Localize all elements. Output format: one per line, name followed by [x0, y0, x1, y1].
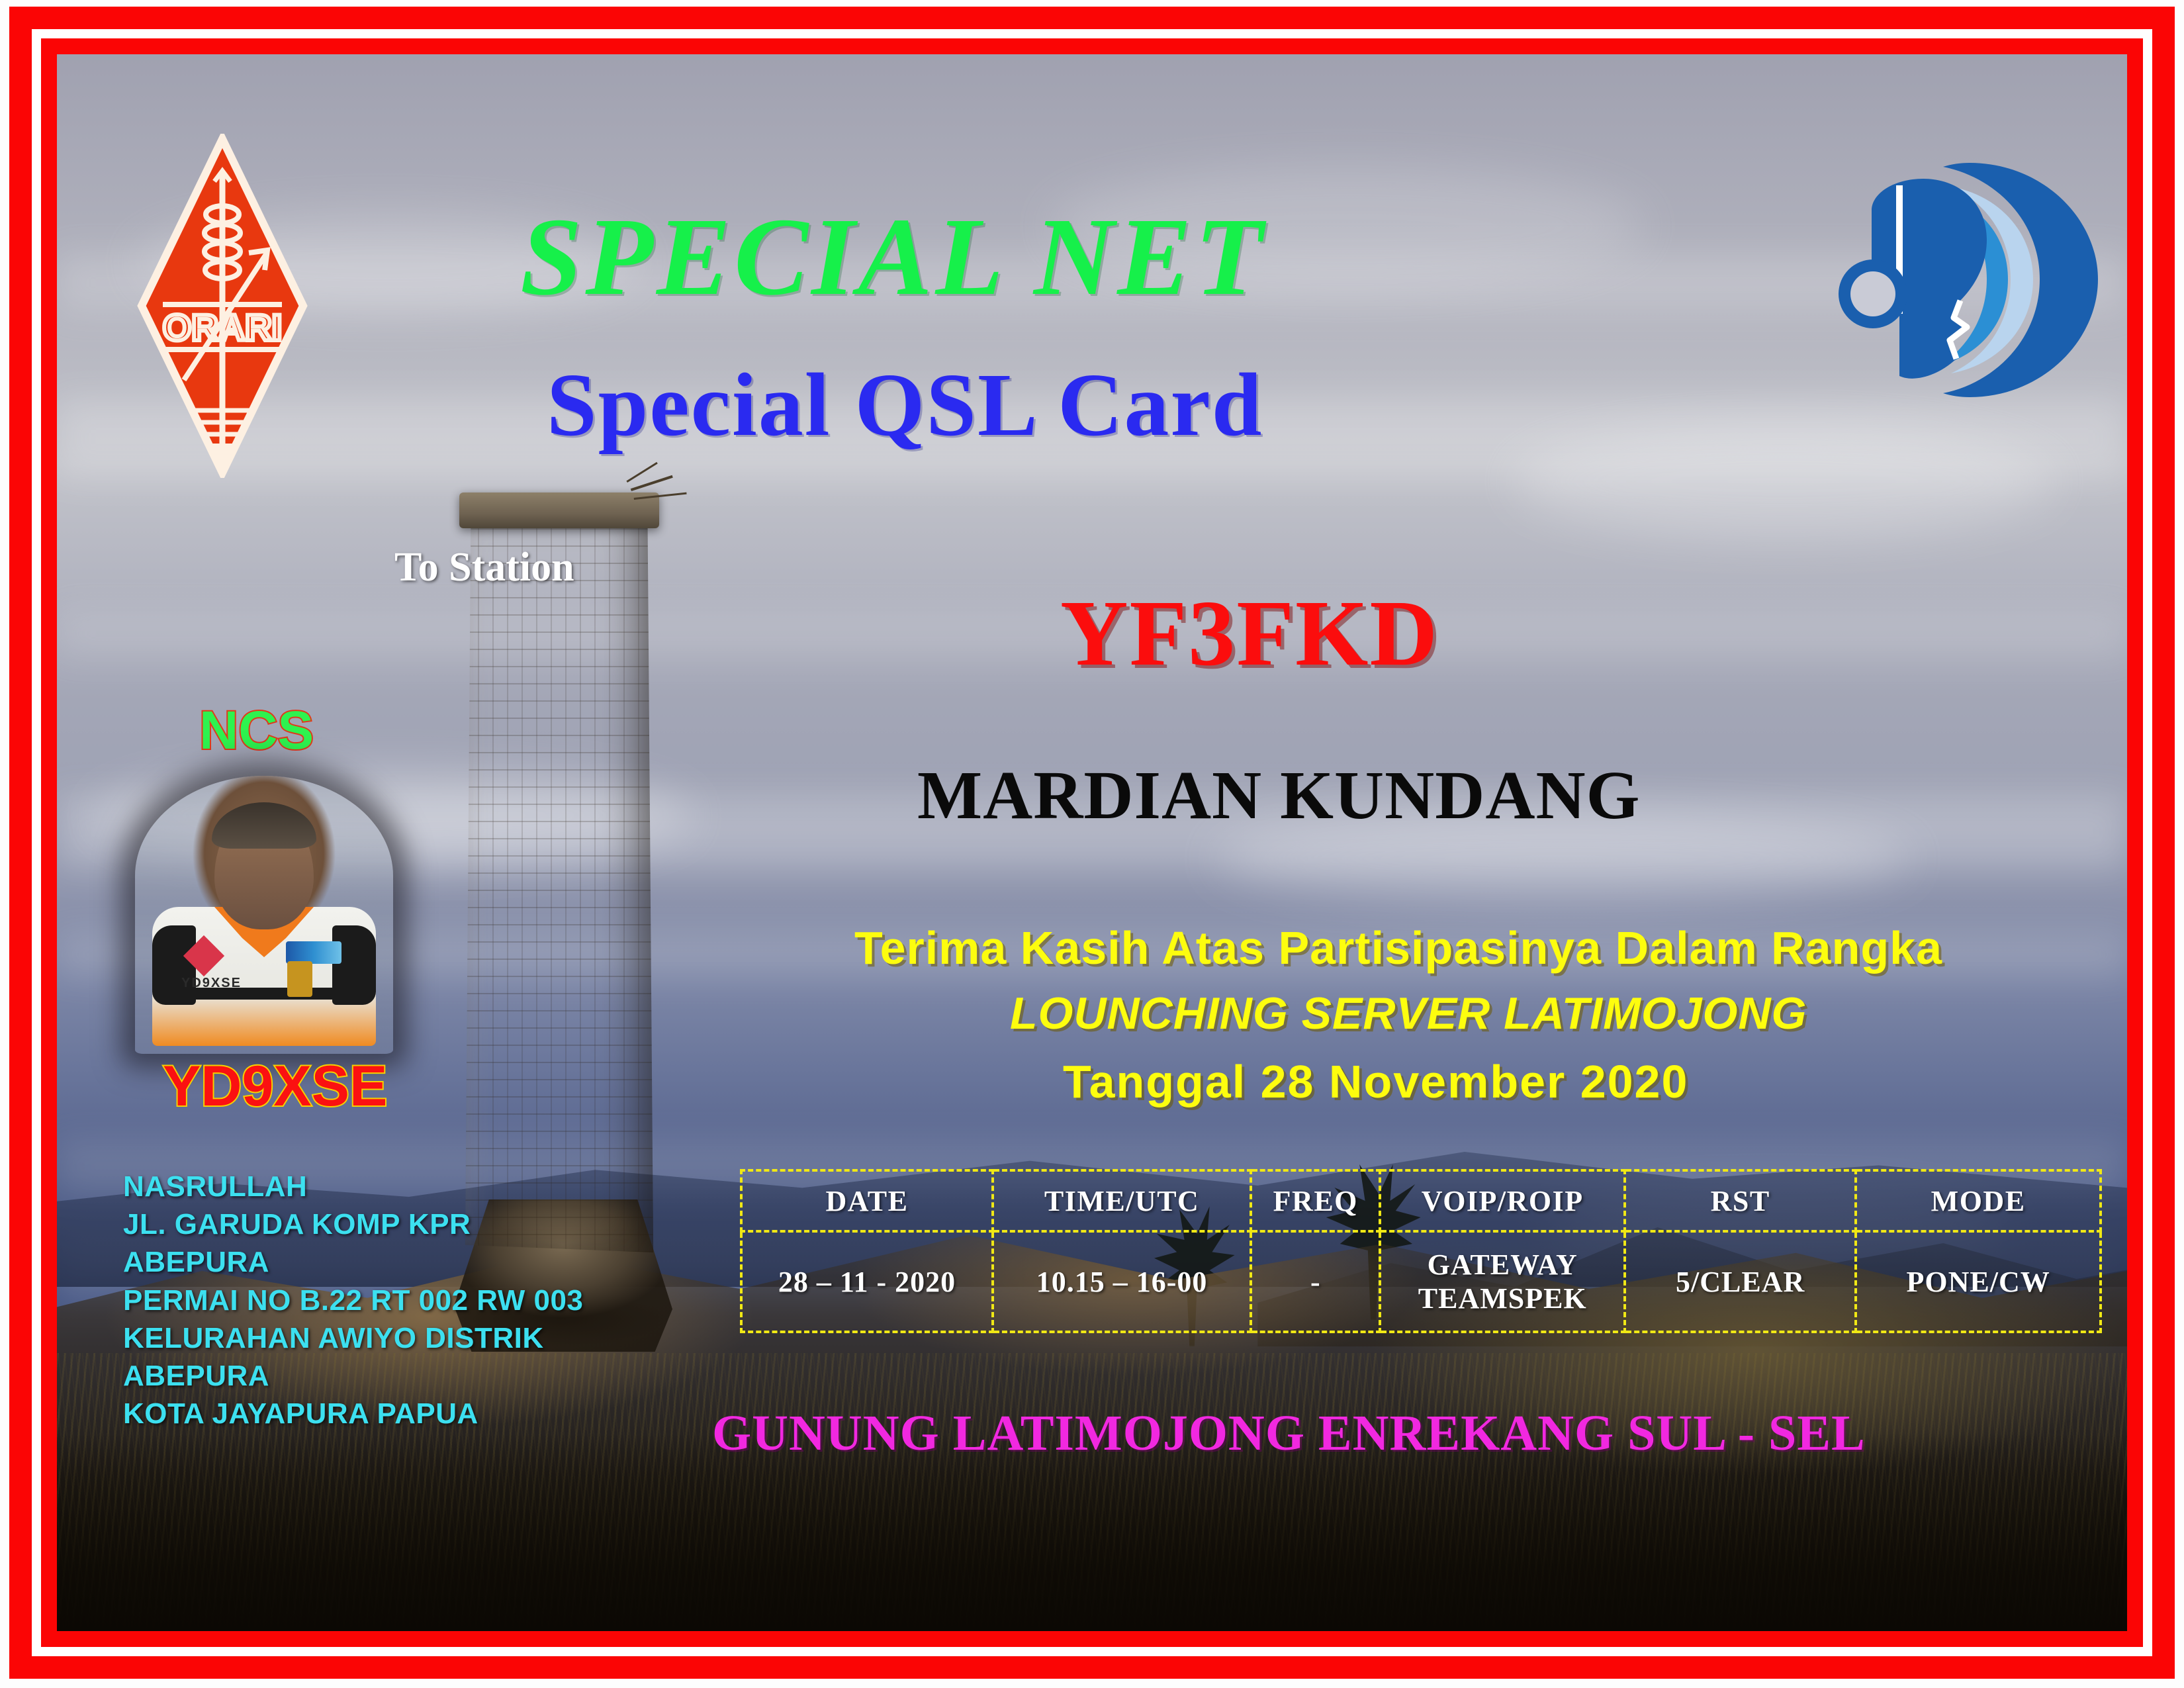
address-line: JL. GARUDA KOMP KPR	[123, 1205, 583, 1243]
footer-web-address: Address : amatir.latimojong.com	[1314, 1623, 2039, 1631]
cell-voip: GATEWAYTEAMSPEK	[1380, 1231, 1625, 1332]
id-card-lanyard	[287, 961, 312, 997]
orari-logo: ORARI	[136, 134, 308, 478]
page-title: SPECIAL NET	[520, 193, 1266, 321]
ground-shadow	[57, 1432, 2127, 1631]
column-header-date: DATE	[741, 1170, 993, 1231]
cell-time: 10.15 – 16-00	[993, 1231, 1251, 1332]
ncs-label: NCS	[199, 700, 314, 762]
event-title: LOUNCHING SERVER LATIMOJONG	[1010, 988, 1807, 1039]
headset-profile-logo	[1831, 147, 2109, 412]
background-photograph: ORARI SPECIAL NE	[57, 54, 2127, 1631]
cell-freq: -	[1251, 1231, 1380, 1332]
location-caption: GUNUNG LATIMOJONG ENREKANG SUL - SEL	[712, 1405, 1866, 1462]
column-header-rst: RST	[1625, 1170, 1856, 1231]
cell-date: 28 – 11 - 2020	[741, 1231, 993, 1332]
address-line: NASRULLAH	[123, 1168, 583, 1205]
table-row: 28 – 11 - 2020 10.15 – 16-00 - GATEWAYTE…	[741, 1231, 2101, 1332]
page-subtitle: Special QSL Card	[547, 353, 1263, 457]
hair	[212, 802, 316, 849]
cell-mode: PONE/CW	[1856, 1231, 2101, 1332]
ncs-callsign: YD9XSE	[163, 1054, 387, 1119]
qso-log-table: DATE TIME/UTC FREQ VOIP/ROIP RST MODE 28…	[740, 1169, 2102, 1333]
cell-rst: 5/CLEAR	[1625, 1231, 1856, 1332]
event-date: Tanggal 28 November 2020	[1063, 1055, 1688, 1108]
address-line: ABEPURA	[123, 1357, 583, 1395]
station-callsign: YF3FKD	[1060, 579, 1439, 687]
to-station-label: To Station	[394, 544, 574, 591]
orari-wordmark: ORARI	[163, 306, 282, 348]
qsl-card: ORARI SPECIAL NE	[0, 0, 2184, 1688]
cloud-puff	[1513, 425, 2056, 538]
address-line: KOTA JAYAPURA PAPUA	[123, 1395, 583, 1432]
column-header-time: TIME/UTC	[993, 1170, 1251, 1231]
twig	[626, 462, 657, 483]
operator-name: MARDIAN KUNDANG	[917, 756, 1640, 835]
address-line: KELURAHAN AWIYO DISTRIK	[123, 1319, 583, 1357]
shirt-badge-right	[286, 941, 341, 964]
column-header-voip: VOIP/ROIP	[1380, 1170, 1625, 1231]
column-header-mode: MODE	[1856, 1170, 2101, 1231]
shirt-callsign-patch: YD9XSE	[181, 976, 242, 991]
column-header-freq: FREQ	[1251, 1170, 1380, 1231]
table-header-row: DATE TIME/UTC FREQ VOIP/ROIP RST MODE	[741, 1170, 2101, 1231]
address-line: PERMAI NO B.22 RT 002 RW 003	[123, 1282, 583, 1319]
footer-motto: "AMATIR RADIO ADALAH PROGRESIVE"	[135, 1623, 1198, 1631]
station-address: NASRULLAH JL. GARUDA KOMP KPR ABEPURA PE…	[123, 1168, 583, 1432]
monument-texture	[463, 504, 655, 1252]
address-line: ABEPURA	[123, 1243, 583, 1281]
ncs-operator-photo: YD9XSE	[135, 776, 393, 1054]
monument-cap	[459, 492, 659, 528]
thanks-line-1: Terima Kasih Atas Partisipasinya Dalam R…	[854, 921, 1942, 974]
